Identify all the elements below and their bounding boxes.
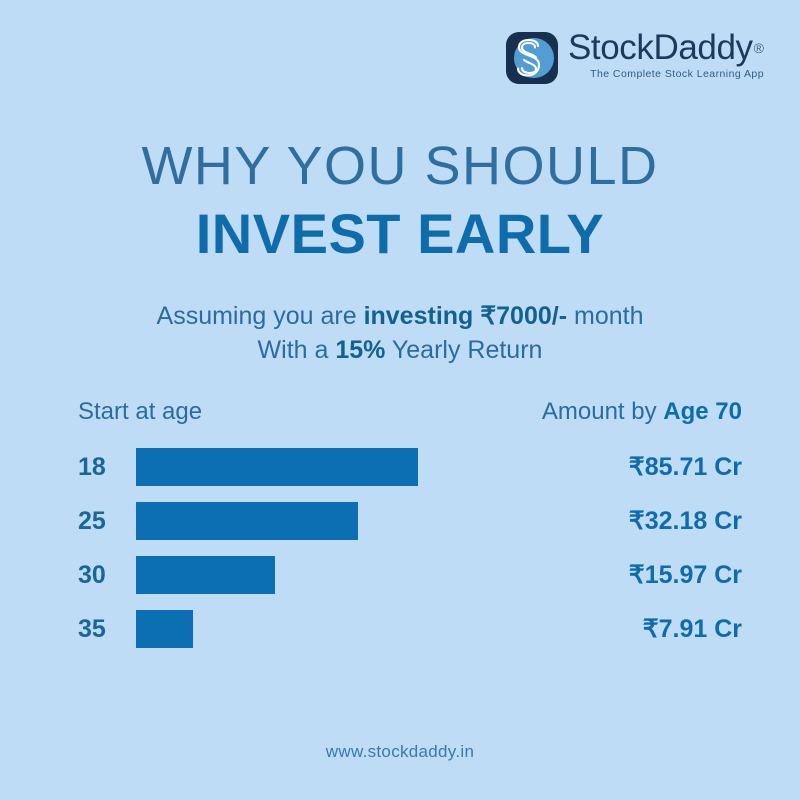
headline-line-2: INVEST EARLY — [0, 203, 800, 266]
column-header-start-age: Start at age — [78, 398, 202, 426]
chart-row-amount-label: ₹32.18 Cr — [562, 506, 742, 536]
brand-tagline: The Complete Stock Learning App — [568, 69, 764, 80]
chart-row-age-label: 30 — [78, 561, 136, 590]
stockdaddy-s-logo-icon — [506, 32, 558, 84]
chart-row-bar — [136, 556, 275, 594]
chart-row-amount-label: ₹7.91 Cr — [562, 614, 742, 644]
chart-row-bar-track — [136, 502, 562, 540]
subtitle-return-rate: 15% — [335, 336, 385, 364]
brand-logo: StockDaddy® The Complete Stock Learning … — [506, 30, 764, 84]
column-header-amount: Amount by Age 70 — [542, 398, 742, 426]
subtitle-investment-amount: investing ₹7000/- — [364, 302, 567, 330]
logo-s-glyph-icon — [513, 37, 547, 79]
footer-website: www.stockdaddy.in — [0, 742, 800, 762]
chart-row-bar — [136, 448, 418, 486]
chart-row-bar-track — [136, 556, 562, 594]
investment-bar-chart: Start at age Amount by Age 70 18₹85.71 C… — [78, 398, 742, 648]
subtitle-line-2: With a 15% Yearly Return — [0, 334, 800, 368]
chart-row-amount-label: ₹15.97 Cr — [562, 560, 742, 590]
chart-rows: 18₹85.71 Cr25₹32.18 Cr30₹15.97 Cr35₹7.91… — [78, 448, 742, 648]
registered-trademark-icon: ® — [754, 40, 764, 56]
chart-row: 25₹32.18 Cr — [78, 502, 742, 540]
chart-row-bar — [136, 502, 358, 540]
chart-row: 35₹7.91 Cr — [78, 610, 742, 648]
subtitle-line-1-prefix: Assuming you are — [157, 302, 364, 330]
column-header-age-70: Age 70 — [663, 398, 742, 425]
brand-name: StockDaddy — [568, 30, 753, 65]
headline-line-1: WHY YOU SHOULD — [0, 138, 800, 195]
subtitle-line-2-suffix: Yearly Return — [385, 336, 542, 364]
chart-row-amount-label: ₹85.71 Cr — [562, 452, 742, 482]
chart-header-row: Start at age Amount by Age 70 — [78, 398, 742, 426]
chart-row-bar-track — [136, 448, 562, 486]
chart-row-bar-track — [136, 610, 562, 648]
page-title: WHY YOU SHOULD INVEST EARLY — [0, 138, 800, 265]
chart-row-age-label: 25 — [78, 507, 136, 536]
subtitle-line-1: Assuming you are investing ₹7000/- month — [0, 300, 800, 334]
chart-row-age-label: 35 — [78, 615, 136, 644]
column-header-amount-prefix: Amount by — [542, 398, 663, 425]
chart-row-age-label: 18 — [78, 453, 136, 482]
chart-row: 30₹15.97 Cr — [78, 556, 742, 594]
subtitle-line-1-suffix: month — [567, 302, 643, 330]
chart-row-bar — [136, 610, 193, 648]
chart-row: 18₹85.71 Cr — [78, 448, 742, 486]
subtitle-line-2-prefix: With a — [258, 336, 336, 364]
subtitle: Assuming you are investing ₹7000/- month… — [0, 300, 800, 368]
